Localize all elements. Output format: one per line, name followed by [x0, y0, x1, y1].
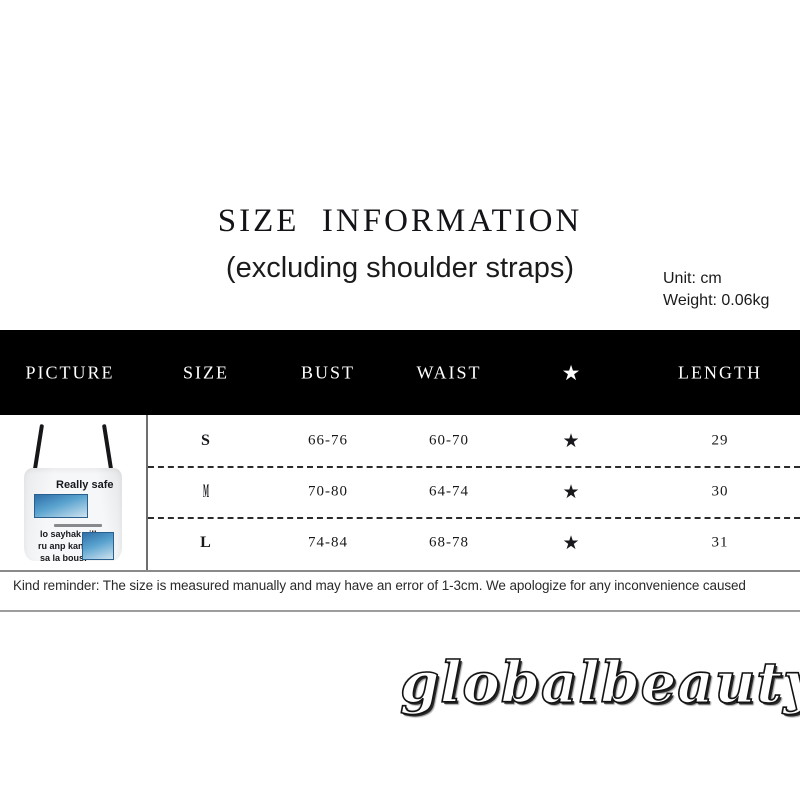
cell-length: 30 — [712, 483, 729, 500]
cell-star-icon: ★ — [562, 430, 579, 452]
column-header-waist: WAIST — [417, 362, 482, 383]
cell-bust: 66-76 — [308, 432, 348, 449]
table-body: Really safe lo sayhak pill ru anp kanq s… — [0, 415, 800, 572]
unit-weight-note: Unit: cm Weight: 0.06kg — [663, 268, 769, 311]
cell-star-icon: ★ — [562, 481, 579, 503]
table-row: L 74-84 68-78 ★ 31 — [0, 517, 800, 568]
cell-star-icon: ★ — [562, 532, 579, 554]
page-title: SIZE INFORMATION — [0, 203, 800, 241]
reminder-text: Kind reminder: The size is measured manu… — [13, 578, 788, 593]
cell-bust: 74-84 — [308, 534, 348, 551]
brand-watermark: globalbeauty — [400, 655, 795, 711]
table-row: S 66-76 60-70 ★ 29 — [0, 415, 800, 466]
cell-waist: 60-70 — [429, 432, 469, 449]
column-header-bust: BUST — [301, 362, 355, 383]
size-table: PICTURE SIZE BUST WAIST ★ LENGTH Really … — [0, 330, 800, 572]
cell-length: 29 — [712, 432, 729, 449]
cell-size: S — [201, 432, 211, 450]
column-header-length: LENGTH — [678, 362, 762, 383]
weight-line: Weight: 0.06kg — [663, 290, 769, 312]
column-header-picture: PICTURE — [25, 362, 114, 383]
cell-waist: 68-78 — [429, 534, 469, 551]
unit-line: Unit: cm — [663, 268, 769, 290]
table-row: M 70-80 64-74 ★ 30 — [0, 466, 800, 517]
cell-waist: 64-74 — [429, 483, 469, 500]
reminder-divider — [0, 610, 800, 612]
cell-length: 31 — [712, 534, 729, 551]
column-header-size: SIZE — [183, 362, 229, 383]
table-header-row: PICTURE SIZE BUST WAIST ★ LENGTH — [0, 330, 800, 415]
column-header-star-icon: ★ — [562, 361, 581, 385]
cell-size: M — [203, 481, 209, 503]
cell-bust: 70-80 — [308, 483, 348, 500]
cell-size: L — [200, 534, 212, 552]
